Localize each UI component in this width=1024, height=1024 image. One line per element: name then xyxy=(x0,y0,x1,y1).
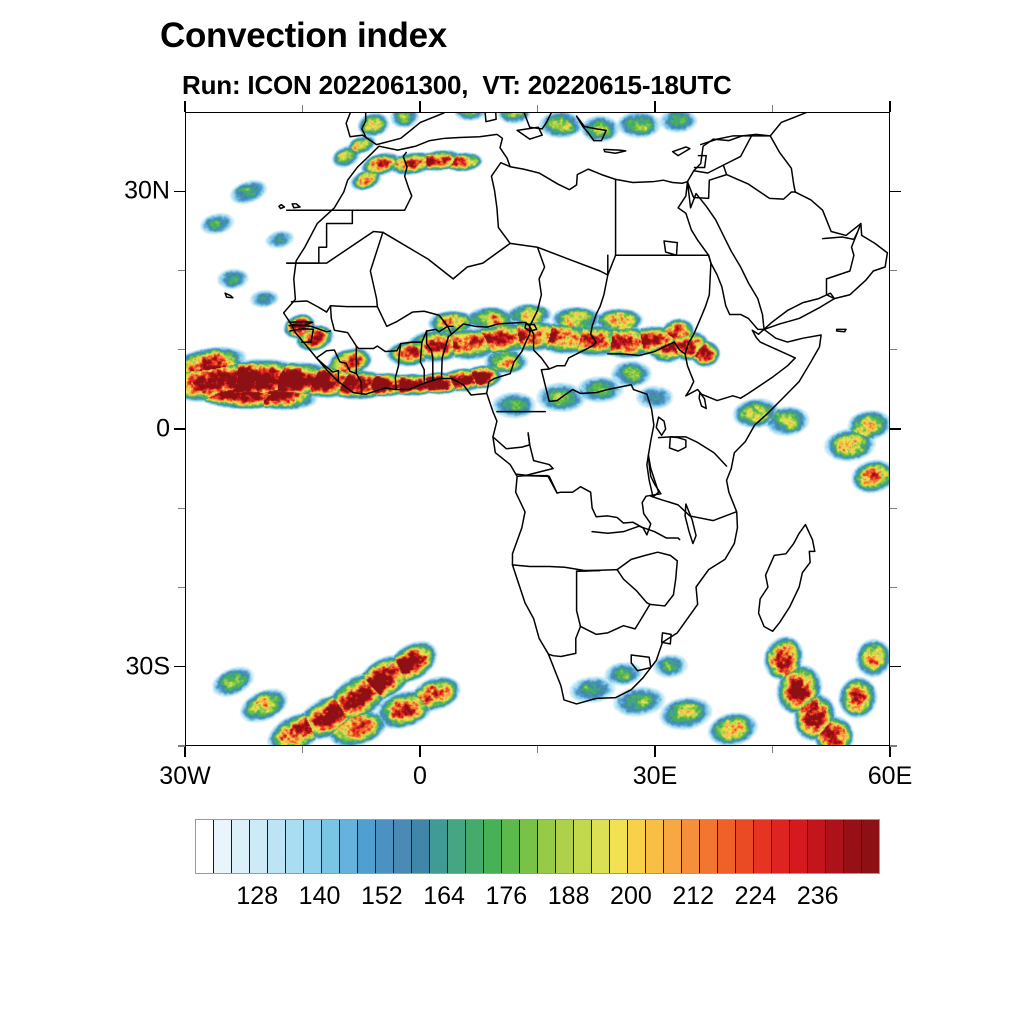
map-line-b-gambia xyxy=(289,322,312,326)
coastline-and-border-overlay xyxy=(186,113,889,745)
colorbar-cell xyxy=(772,820,790,873)
map-line-b-car-s xyxy=(541,370,633,402)
map-line-b-nigeria-e xyxy=(487,326,530,392)
colorbar-tick-label: 200 xyxy=(610,882,652,911)
y-axis-major-tick xyxy=(174,191,185,192)
map-line-malawi xyxy=(685,504,696,543)
colorbar-cell xyxy=(376,820,394,873)
x-axis-major-tick xyxy=(184,746,185,757)
y-axis-major-tick-right xyxy=(890,428,901,429)
colorbar-cell xyxy=(214,820,232,873)
map-line-b-congo-w xyxy=(525,433,553,476)
y-axis-minor-tick-right xyxy=(890,508,897,509)
map-line-b-gabon-s xyxy=(493,433,530,449)
colorbar-cell xyxy=(718,820,736,873)
x-axis-minor-tick-top xyxy=(772,105,773,112)
map-line-b-sudan-s xyxy=(608,342,685,355)
map-line-b-zim-n xyxy=(617,552,677,569)
colorbar-tick-label: 140 xyxy=(299,882,341,911)
map-line-lesotho xyxy=(631,655,651,671)
map-line-group xyxy=(225,113,889,704)
map-line-b-namibia-e xyxy=(548,570,600,656)
map-line-b-mauritania2 xyxy=(291,232,382,312)
map-line-b-sudan-e xyxy=(685,255,711,354)
map-line-b-guinea xyxy=(316,350,356,374)
map-line-madagascar xyxy=(759,525,815,632)
map-line-b-nigeria-w xyxy=(441,334,451,378)
map-line-canaries2 xyxy=(292,204,300,208)
x-axis-major-tick-top xyxy=(654,101,655,112)
figure-root: Convection index Run: ICON 2022061300, V… xyxy=(0,0,1024,1024)
colorbar-cell xyxy=(286,820,304,873)
colorbar-cell xyxy=(466,820,484,873)
x-axis-major-tick-top xyxy=(889,101,890,112)
colorbar-cell xyxy=(322,820,340,873)
colorbar-cell xyxy=(484,820,502,873)
map-line-b-angola-n xyxy=(516,474,557,493)
colorbar-cell xyxy=(808,820,826,873)
colorbar-tick-label: 236 xyxy=(797,882,839,911)
map-line-cyprus xyxy=(673,147,690,156)
colorbar-cell xyxy=(520,820,538,873)
map-line-b-algeria-e xyxy=(453,163,510,279)
x-axis-tick-label: 60E xyxy=(868,762,912,791)
colorbar-cell xyxy=(844,820,862,873)
colorbar-cell xyxy=(628,820,646,873)
map-line-b-jordan xyxy=(693,165,727,198)
colorbar-cell xyxy=(448,820,466,873)
map-line-crete xyxy=(604,149,626,153)
map-line-gulf xyxy=(764,192,887,329)
colorbar-cell xyxy=(862,820,879,873)
map-line-b-wsahara xyxy=(287,210,353,263)
map-line-b-ethiopia-e xyxy=(741,330,796,398)
map-line-b-oman-w xyxy=(826,232,857,299)
map-line-b-mali-s xyxy=(377,307,453,327)
map-line-b-ivoire-w xyxy=(356,346,361,394)
y-axis-minor-tick-right xyxy=(890,270,897,271)
map-line-b-algeria-s xyxy=(383,232,453,279)
colorbar-cell xyxy=(394,820,412,873)
colorbar-tick-label: 128 xyxy=(236,882,278,911)
colorbar-tick-label: 164 xyxy=(423,882,465,911)
map-line-b-togo-w xyxy=(420,342,424,381)
map-line-b-portugal xyxy=(356,113,372,137)
map-line-arabia xyxy=(687,113,889,182)
y-axis-major-tick-right xyxy=(890,666,901,667)
colorbar-cell xyxy=(412,820,430,873)
map-line-b-morocco xyxy=(352,152,411,210)
colorbar-cell xyxy=(664,820,682,873)
y-axis-minor-tick xyxy=(178,270,185,271)
colorbar-tick-label: 176 xyxy=(486,882,528,911)
colorbar-cell xyxy=(682,820,700,873)
map-line-b-niger-e xyxy=(510,243,544,326)
page-title: Convection index xyxy=(160,16,1024,56)
colorbar-cell xyxy=(556,820,574,873)
y-axis-minor-tick-right xyxy=(890,745,897,746)
map-line-b-kenya-n xyxy=(686,390,741,401)
x-axis-minor-tick xyxy=(302,746,303,753)
y-axis-minor-tick xyxy=(178,587,185,588)
map-line-greece xyxy=(577,116,607,140)
colorbar-strip xyxy=(195,819,880,874)
y-axis-major-tick xyxy=(174,428,185,429)
map-line-b-zambia-n xyxy=(592,526,680,539)
y-axis-minor-tick xyxy=(178,508,185,509)
colorbar-cell xyxy=(430,820,448,873)
map-line-africa-coast xyxy=(284,134,688,324)
map-line-capeverde xyxy=(225,293,233,298)
map-line-greatlakes-v xyxy=(670,437,686,451)
y-axis-tick-label: 30S xyxy=(60,652,170,681)
map-frame xyxy=(185,112,890,746)
colorbar-tick-label: 152 xyxy=(361,882,403,911)
map-line-b-tanzania-s xyxy=(651,496,736,520)
map-line-b-libya-e xyxy=(608,179,616,275)
map-line-nasser xyxy=(664,241,677,255)
map-line-b-niger-s xyxy=(448,322,530,334)
colorbar-cell xyxy=(268,820,286,873)
colorbar xyxy=(195,819,880,874)
colorbar-cell xyxy=(790,820,808,873)
colorbar-tick-label: 212 xyxy=(672,882,714,911)
colorbar-cell xyxy=(700,820,718,873)
map-line-victoria-n xyxy=(656,417,665,435)
colorbar-cell xyxy=(232,820,250,873)
map-line-b-tanzania-n xyxy=(659,437,727,466)
map-line-b-chad-e xyxy=(549,275,608,369)
map-line-b-mauritania xyxy=(287,232,383,264)
colorbar-tick-label: 224 xyxy=(735,882,777,911)
x-axis-major-tick-top xyxy=(419,101,420,112)
y-axis-tick-label: 0 xyxy=(60,415,170,444)
colorbar-cell xyxy=(358,820,376,873)
colorbar-cell xyxy=(574,820,592,873)
colorbar-cell xyxy=(196,820,214,873)
colorbar-cell xyxy=(304,820,322,873)
map-line-b-benin-w xyxy=(427,331,433,380)
x-axis-tick-label: 30W xyxy=(159,762,210,791)
x-axis-major-tick-top xyxy=(184,101,185,112)
colorbar-cell xyxy=(646,820,664,873)
y-axis-major-tick xyxy=(174,666,185,667)
map-line-sardinia xyxy=(484,113,496,122)
y-axis-minor-tick-right xyxy=(890,587,897,588)
x-axis-minor-tick-top xyxy=(302,105,303,112)
x-axis-minor-tick xyxy=(537,746,538,753)
x-axis-major-tick xyxy=(419,746,420,757)
colorbar-cell xyxy=(754,820,772,873)
map-line-horn xyxy=(291,325,821,704)
colorbar-cell xyxy=(826,820,844,873)
map-line-b-botswana-e xyxy=(577,570,650,635)
x-axis-minor-tick-top xyxy=(537,105,538,112)
x-axis-major-tick xyxy=(654,746,655,757)
colorbar-cell xyxy=(610,820,628,873)
map-line-b-iraq xyxy=(723,136,795,192)
x-axis-tick-label: 0 xyxy=(413,762,427,791)
map-line-b-chad-w xyxy=(530,326,550,369)
x-axis-minor-tick xyxy=(772,746,773,753)
x-axis-major-tick xyxy=(889,746,890,757)
colorbar-cell xyxy=(502,820,520,873)
map-line-canaries xyxy=(279,205,284,209)
map-line-italy xyxy=(444,113,565,129)
colorbar-tick-label: 188 xyxy=(548,882,590,911)
map-line-b-moz-w xyxy=(650,561,677,606)
colorbar-cell xyxy=(592,820,610,873)
map-line-socotra xyxy=(837,329,846,331)
map-line-sicily xyxy=(517,127,542,139)
map-line-b-saudi-n xyxy=(727,175,796,200)
map-line-b-ethiopia-w xyxy=(685,354,694,396)
y-axis-tick-label: 30N xyxy=(60,177,170,206)
colorbar-cell xyxy=(250,820,268,873)
colorbar-cell xyxy=(736,820,754,873)
map-line-b-libya-s xyxy=(538,247,608,275)
map-plot-area xyxy=(185,112,890,746)
colorbar-cell xyxy=(340,820,358,873)
colorbar-cell xyxy=(538,820,556,873)
y-axis-minor-tick-right xyxy=(890,349,897,350)
y-axis-minor-tick xyxy=(178,745,185,746)
y-axis-major-tick-right xyxy=(890,191,901,192)
y-axis-minor-tick xyxy=(178,349,185,350)
x-axis-tick-label: 30E xyxy=(633,762,677,791)
map-line-b-angola-s xyxy=(512,565,600,571)
figure-subtitle: Run: ICON 2022061300, VT: 20220615-18UTC xyxy=(182,70,1024,101)
